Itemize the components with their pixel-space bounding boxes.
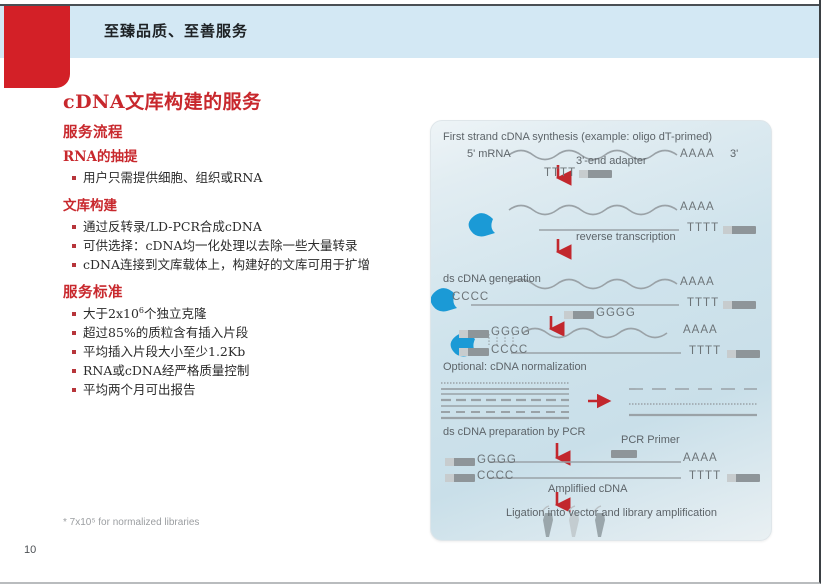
panel-title-first-strand: First strand cDNA synthesis (example: ol… (443, 131, 712, 143)
bullet-square-icon (72, 369, 76, 373)
list-item-label: 大于2x106个独立克隆 (83, 306, 207, 321)
label-5prime-mrna: 5' mRNA (467, 148, 511, 160)
label-aaaa: AAAA (683, 452, 718, 464)
subsection-heading-library-construction: 文库构建 (63, 194, 117, 214)
label-aaaa: AAAA (680, 148, 715, 160)
list-item: cDNA连接到文库载体上，构建好的文库可用于扩增 (72, 254, 370, 273)
list-item-label: 通过反转录/LD-PCR合成cDNA (83, 219, 262, 234)
adapter-bar (564, 311, 594, 319)
cdna-workflow-diagram: First strand cDNA synthesis (example: ol… (430, 120, 772, 541)
list-item: 超过85%的质粒含有插入片段 (72, 322, 248, 341)
slide-canvas: 至臻品质、至善服务 cDNA文库构建的服务 服务流程 RNA的抽提 用户只需提供… (0, 0, 821, 584)
label-cccc: CCCC (452, 291, 489, 303)
bullet-square-icon (72, 350, 76, 354)
list-item: 平均插入片段大小至少1.2Kb (72, 341, 245, 360)
bullet-square-icon (72, 244, 76, 248)
label-tttt: TTTT (689, 345, 721, 357)
list-item: 可供选择：cDNA均一化处理以去除一些大量转录 (72, 235, 358, 254)
list-item-label: 平均插入片段大小至少1.2Kb (83, 344, 245, 359)
page-number: 10 (24, 544, 36, 556)
label-3end-adapter: 3'-end adapter (576, 155, 647, 167)
adapter-bar (459, 348, 489, 356)
label-tttt: TTTT (687, 297, 719, 309)
label-tttt: TTTT (689, 470, 721, 482)
list-item-label: 可供选择：cDNA均一化处理以去除一些大量转录 (83, 238, 358, 253)
list-item: RNA或cDNA经严格质量控制 (72, 360, 249, 379)
list-item: 用户只需提供细胞、组织或RNA (72, 167, 262, 186)
panel-title-normalization: Optional: cDNA normalization (443, 361, 587, 373)
adapter-bar (445, 458, 475, 466)
list-item-label: 用户只需提供细胞、组织或RNA (83, 170, 262, 185)
label-tttt: TTTT (544, 167, 576, 179)
adapter-bar (579, 170, 612, 178)
subsection-heading-rna-extraction: RNA的抽提 (63, 145, 138, 165)
pcr-primer-bar (611, 450, 637, 458)
header-title: 至臻品质、至善服务 (104, 20, 248, 41)
enzyme-icon (469, 213, 495, 236)
adapter-bar (727, 350, 760, 358)
label-gggg: GGGG (477, 454, 517, 466)
label-tttt: TTTT (687, 222, 719, 234)
list-item-label: 平均两个月可出报告 (83, 382, 196, 397)
gel-dense (441, 383, 569, 418)
list-item: 通过反转录/LD-PCR合成cDNA (72, 216, 262, 235)
page-title: cDNA文库构建的服务 (63, 87, 262, 114)
label-ligation-amplification: Ligation into vector and library amplifi… (506, 507, 717, 519)
label-3prime: 3' (730, 148, 738, 160)
adapter-bar (723, 226, 756, 234)
list-item-label: 超过85%的质粒含有插入片段 (83, 325, 248, 340)
brand-red-block (4, 6, 70, 88)
gel-normalized (629, 389, 757, 415)
adapter-bar (445, 474, 475, 482)
section-heading-service-flow: 服务流程 (63, 121, 123, 142)
bullet-square-icon (72, 331, 76, 335)
label-gggg: GGGG (491, 326, 531, 338)
list-item-label: cDNA连接到文库载体上，构建好的文库可用于扩增 (83, 257, 370, 272)
bullet-square-icon (72, 176, 76, 180)
bullet-square-icon (72, 263, 76, 267)
label-aaaa: AAAA (680, 276, 715, 288)
label-aaaa: AAAA (683, 324, 718, 336)
label-amplified-cdna: Ampliflied cDNA (548, 483, 627, 495)
bullet-square-icon (72, 312, 76, 316)
label-gggg: GGGG (596, 307, 636, 319)
list-item-label: RNA或cDNA经严格质量控制 (83, 363, 249, 378)
label-cccc: CCCC (477, 470, 514, 482)
adapter-bar (459, 330, 489, 338)
adapter-bar (727, 474, 760, 482)
footnote: * 7x10⁵ for normalized libraries (63, 517, 199, 528)
list-item: 平均两个月可出报告 (72, 379, 196, 398)
label-pcr-primer: PCR Primer (621, 434, 680, 446)
adapter-bar (723, 301, 756, 309)
label-aaaa: AAAA (680, 201, 715, 213)
panel-title-pcr-prep: ds cDNA preparation by PCR (443, 426, 585, 438)
section-heading-service-standard: 服务标准 (63, 281, 123, 302)
bullet-square-icon (72, 388, 76, 392)
label-reverse-transcription: reverse transcription (576, 231, 676, 243)
list-item: 大于2x106个独立克隆 (72, 303, 207, 322)
label-cccc: CCCC (491, 344, 528, 356)
bullet-square-icon (72, 225, 76, 229)
panel-title-ds-cdna-generation: ds cDNA generation (443, 273, 541, 285)
